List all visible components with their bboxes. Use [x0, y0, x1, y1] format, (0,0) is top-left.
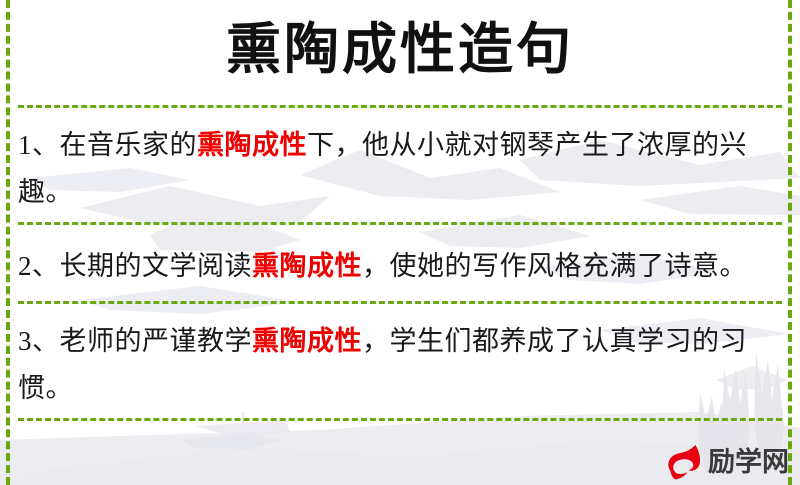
site-logo[interactable]: 励学网 — [664, 441, 789, 483]
separator-1 — [18, 105, 782, 108]
separator-3 — [18, 301, 782, 304]
sentence-index-3: 3、 — [18, 326, 60, 356]
page-root: 熏陶成性造句 1、在音乐家的熏陶成性下，他从小就对钢琴产生了浓厚的兴趣。 2、长… — [0, 0, 800, 485]
sentence-item-1: 1、在音乐家的熏陶成性下，他从小就对钢琴产生了浓厚的兴趣。 — [18, 122, 770, 216]
site-logo-text: 励学网 — [708, 447, 789, 477]
swirl-outer-stroke — [668, 445, 700, 475]
separator-4 — [18, 418, 782, 421]
sentence-highlight-2: 熏陶成性 — [252, 251, 362, 281]
sentence-after-2: ，使她的写作风格充满了诗意。 — [362, 251, 747, 281]
sentence-item-3: 3、老师的严谨教学熏陶成性，学生们都养成了认真学习的习惯。 — [18, 318, 770, 412]
separator-2 — [18, 222, 782, 225]
sentence-highlight-1: 熏陶成性 — [197, 130, 307, 160]
sentence-before-1: 在音乐家的 — [60, 130, 198, 160]
page-title: 熏陶成性造句 — [0, 14, 800, 86]
frame-border-left — [6, 0, 10, 485]
frame-border-right — [788, 0, 792, 485]
swirl-dot — [686, 451, 692, 457]
sentence-highlight-3: 熏陶成性 — [252, 326, 362, 356]
sentence-index-1: 1、 — [18, 130, 60, 160]
sentence-before-3: 老师的严谨教学 — [60, 326, 253, 356]
sentence-item-2: 2、长期的文学阅读熏陶成性，使她的写作风格充满了诗意。 — [18, 243, 770, 290]
swirl-phoenix-icon — [664, 441, 706, 483]
sentence-index-2: 2、 — [18, 251, 60, 281]
sentence-before-2: 长期的文学阅读 — [60, 251, 253, 281]
